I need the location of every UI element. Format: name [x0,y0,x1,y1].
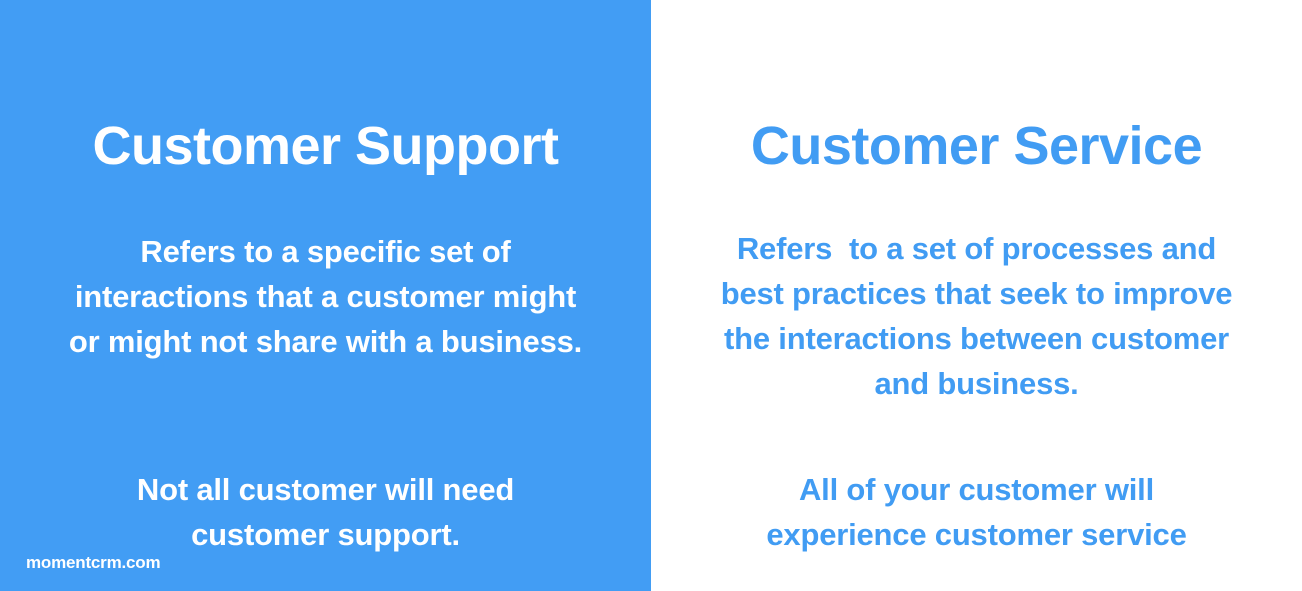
left-panel-content: Customer Support Refers to a specific se… [12,0,639,591]
right-panel-customer-service: Customer Service Refers to a set of proc… [651,0,1302,591]
right-panel-paragraph-one: Refers to a set of processes and best pr… [665,226,1288,406]
watermark-momentcrm: momentcrm.com [26,554,160,571]
right-panel-content: Customer Service Refers to a set of proc… [665,0,1288,591]
left-panel-paragraph-one: Refers to a specific set of interactions… [12,229,639,364]
right-panel-paragraph-two: All of your customer will experience cus… [665,467,1288,557]
right-panel-heading: Customer Service [665,118,1288,175]
left-panel-heading: Customer Support [12,118,639,175]
comparison-infographic: Customer Support Refers to a specific se… [0,0,1302,591]
left-panel-customer-support: Customer Support Refers to a specific se… [0,0,651,591]
left-panel-paragraph-two: Not all customer will need customer supp… [12,467,639,557]
